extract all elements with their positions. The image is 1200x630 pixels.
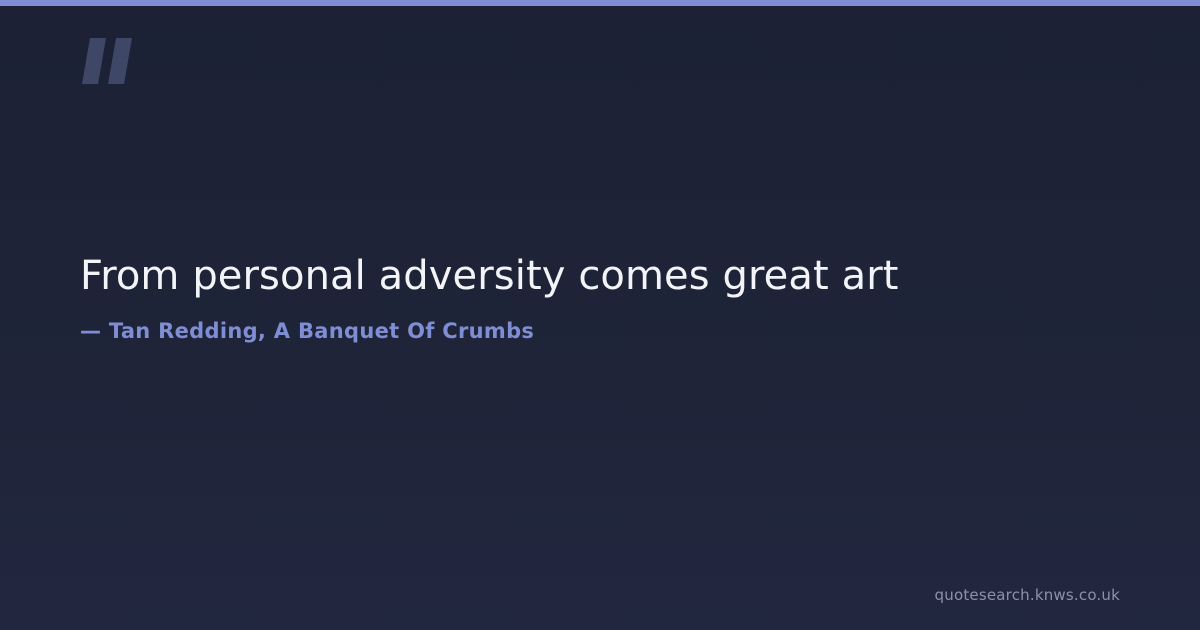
double-quote-open-icon — [78, 38, 138, 84]
quote-card: From personal adversity comes great art … — [0, 0, 1200, 630]
source-url-label: quotesearch.knws.co.uk — [935, 586, 1120, 604]
quote-text: From personal adversity comes great art — [80, 250, 1080, 303]
top-accent-bar — [0, 0, 1200, 6]
quote-attribution: — Tan Redding, A Banquet Of Crumbs — [80, 319, 1120, 343]
quote-content: From personal adversity comes great art … — [80, 250, 1120, 343]
